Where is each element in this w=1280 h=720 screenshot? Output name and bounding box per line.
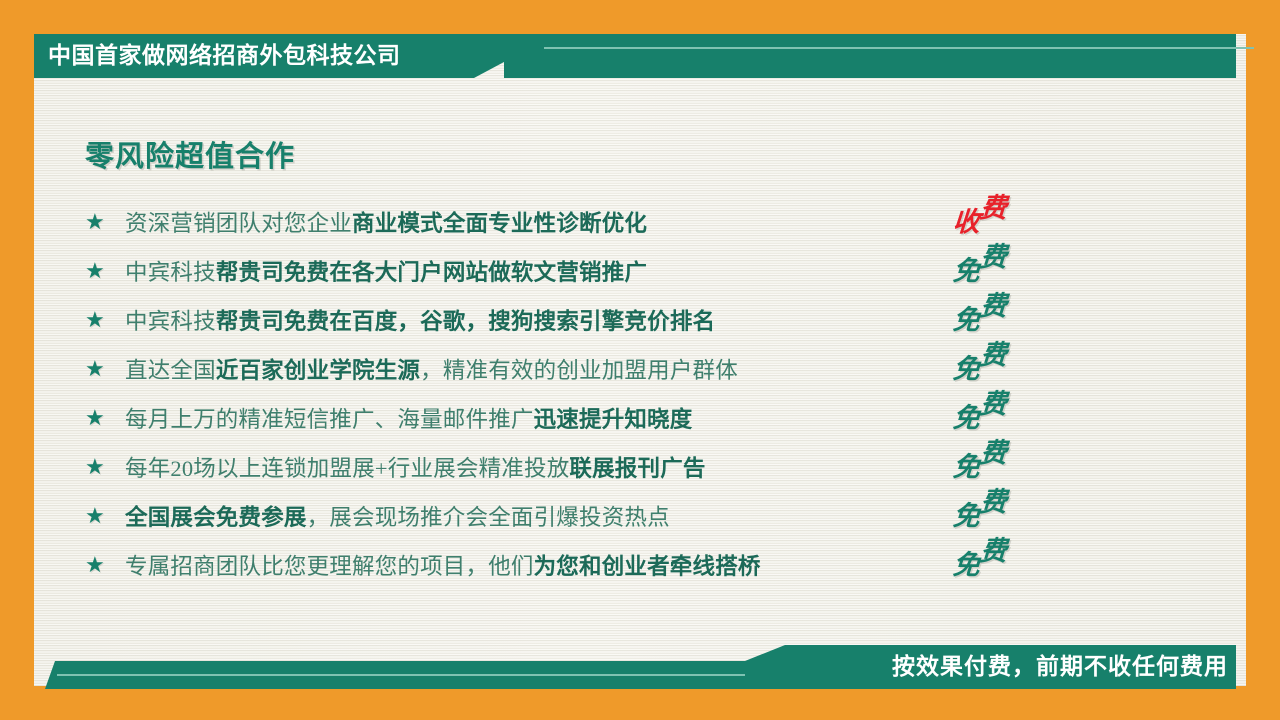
list-item-plain: ，展会现场推介会全面引爆投资热点	[307, 505, 670, 530]
header-rule	[544, 47, 1254, 49]
price-char-first: 免	[952, 396, 982, 435]
list-item-text: 每月上万的精准短信推广、海量邮件推广迅速提升知晓度	[125, 402, 1085, 434]
footer: 按效果付费，前期不收任何费用	[45, 645, 1236, 689]
page-title: 零风险超值合作	[85, 133, 295, 175]
star-icon: ★	[85, 407, 125, 429]
list-item-plain: 中宾科技	[125, 309, 216, 334]
price-badge: 免费	[953, 389, 1073, 428]
list-item-plain: ，精准有效的创业加盟用户群体	[420, 358, 738, 383]
price-char-second: 费	[979, 333, 1009, 372]
list-item: ★专属招商团队比您更理解您的项目，他们为您和创业者牵线搭桥免费	[85, 540, 1085, 589]
list-item-text: 全国展会免费参展，展会现场推介会全面引爆投资热点	[125, 500, 1085, 532]
list-item-emphasis: 迅速提升知晓度	[534, 407, 693, 432]
list-item-plain: 中宾科技	[125, 260, 216, 285]
price-char-second: 费	[979, 382, 1009, 421]
price-badge: 免费	[953, 340, 1073, 379]
list-item-text: 专属招商团队比您更理解您的项目，他们为您和创业者牵线搭桥	[125, 549, 1085, 581]
list-item-text: 中宾科技帮贵司免费在各大门户网站做软文营销推广	[125, 255, 1085, 287]
price-char-first: 免	[952, 445, 982, 484]
list-item-text: 每年20场以上连锁加盟展+行业展会精准投放联展报刊广告	[125, 451, 1085, 483]
price-char-first: 免	[952, 494, 982, 533]
header-bar	[504, 34, 1236, 78]
list-item: ★中宾科技帮贵司免费在百度，谷歌，搜狗搜索引擎竞价排名免费	[85, 295, 1085, 344]
list-item-text: 资深营销团队对您企业商业模式全面专业性诊断优化	[125, 206, 1085, 238]
benefit-list: ★资深营销团队对您企业商业模式全面专业性诊断优化收费★中宾科技帮贵司免费在各大门…	[85, 197, 1085, 589]
list-item-emphasis: 全国展会免费参展	[125, 505, 307, 530]
star-icon: ★	[85, 505, 125, 527]
list-item-plain: 每月上万的精准短信推广、海量邮件推广	[125, 407, 534, 432]
footer-right-bar: 按效果付费，前期不收任何费用	[745, 645, 1236, 689]
list-item-emphasis: 为您和创业者牵线搭桥	[534, 554, 761, 579]
star-icon: ★	[85, 260, 125, 282]
price-char-second: 费	[979, 529, 1009, 568]
price-badge: 收费	[953, 193, 1073, 232]
list-item-plain: 每年20场以上连锁加盟展+行业展会精准投放	[125, 456, 569, 481]
list-item-text: 中宾科技帮贵司免费在百度，谷歌，搜狗搜索引擎竞价排名	[125, 304, 1085, 336]
price-char-first: 免	[952, 543, 982, 582]
header-title: 中国首家做网络招商外包科技公司	[48, 34, 401, 78]
list-item: ★资深营销团队对您企业商业模式全面专业性诊断优化收费	[85, 197, 1085, 246]
footer-rule	[57, 674, 757, 676]
price-badge: 免费	[953, 536, 1073, 575]
list-item-plain: 直达全国	[125, 358, 216, 383]
star-icon: ★	[85, 456, 125, 478]
price-char-second: 费	[979, 284, 1009, 323]
list-item-emphasis: 商业模式全面专业性诊断优化	[352, 211, 647, 236]
list-item-text: 直达全国近百家创业学院生源，精准有效的创业加盟用户群体	[125, 353, 1085, 385]
list-item: ★每月上万的精准短信推广、海量邮件推广迅速提升知晓度免费	[85, 393, 1085, 442]
list-item-emphasis: 帮贵司免费在百度，谷歌，搜狗搜索引擎竞价排名	[216, 309, 715, 334]
list-item-emphasis: 联展报刊广告	[569, 456, 705, 481]
list-item: ★中宾科技帮贵司免费在各大门户网站做软文营销推广免费	[85, 246, 1085, 295]
header: 中国首家做网络招商外包科技公司	[34, 34, 1236, 78]
star-icon: ★	[85, 211, 125, 233]
list-item-plain: 专属招商团队比您更理解您的项目，他们	[125, 554, 534, 579]
footer-text: 按效果付费，前期不收任何费用	[892, 645, 1228, 689]
price-char-second: 费	[979, 480, 1009, 519]
price-char-first: 收	[952, 200, 982, 239]
price-badge: 免费	[953, 487, 1073, 526]
star-icon: ★	[85, 309, 125, 331]
price-badge: 免费	[953, 291, 1073, 330]
price-char-second: 费	[979, 431, 1009, 470]
list-item: ★直达全国近百家创业学院生源，精准有效的创业加盟用户群体免费	[85, 344, 1085, 393]
slide: 中国首家做网络招商外包科技公司 零风险超值合作 ★资深营销团队对您企业商业模式全…	[0, 0, 1280, 720]
star-icon: ★	[85, 358, 125, 380]
star-icon: ★	[85, 554, 125, 576]
list-item-emphasis: 近百家创业学院生源	[216, 358, 420, 383]
list-item-emphasis: 帮贵司免费在各大门户网站做软文营销推广	[216, 260, 647, 285]
price-char-second: 费	[979, 186, 1009, 225]
price-char-first: 免	[952, 249, 982, 288]
price-char-first: 免	[952, 298, 982, 337]
price-badge: 免费	[953, 438, 1073, 477]
list-item: ★全国展会免费参展，展会现场推介会全面引爆投资热点免费	[85, 491, 1085, 540]
price-char-first: 免	[952, 347, 982, 386]
price-badge: 免费	[953, 242, 1073, 281]
list-item-plain: 资深营销团队对您企业	[125, 211, 352, 236]
list-item: ★每年20场以上连锁加盟展+行业展会精准投放联展报刊广告免费	[85, 442, 1085, 491]
price-char-second: 费	[979, 235, 1009, 274]
